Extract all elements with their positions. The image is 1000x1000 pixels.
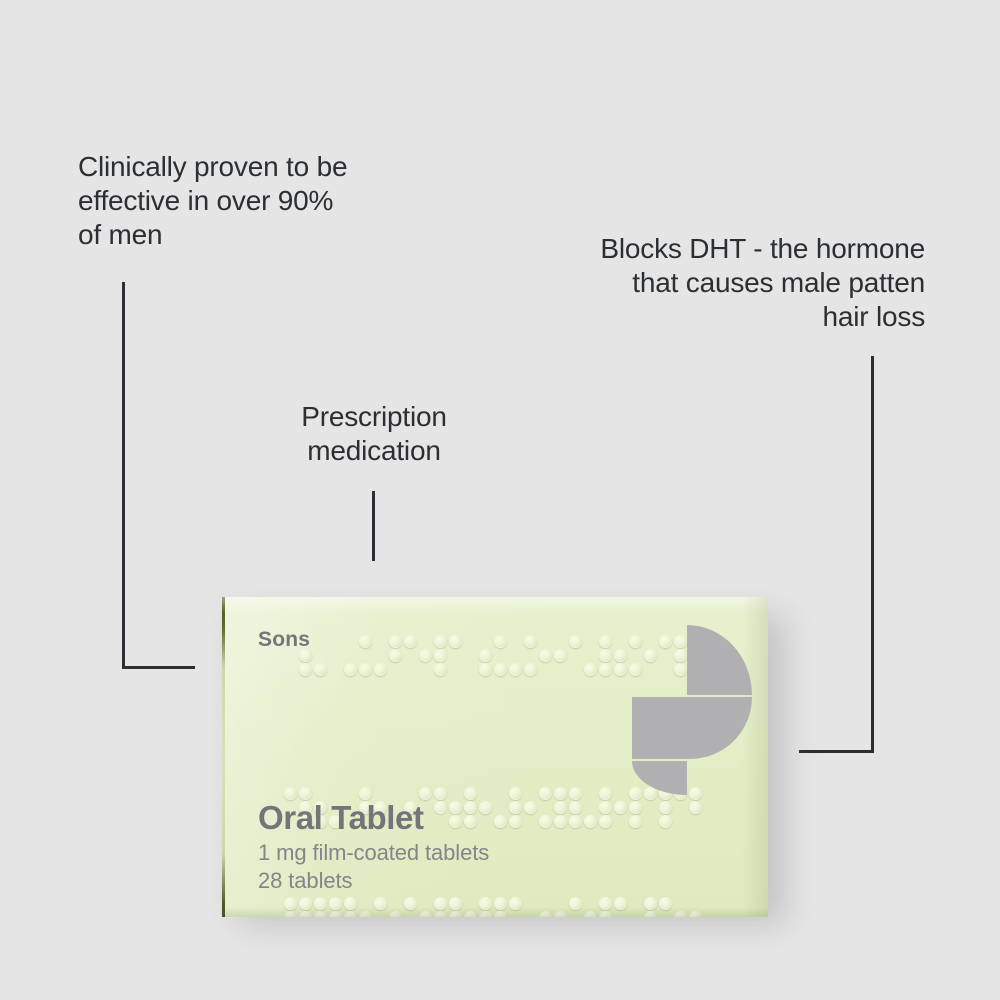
braille-dot [569,801,582,814]
braille-dot [509,787,522,800]
braille-dot [614,801,627,814]
braille-dot [599,801,612,814]
braille-dot [554,815,567,828]
leader-line-clinically-proven-horizontal [122,666,195,669]
braille-dot [584,815,597,828]
braille-dot [524,635,537,648]
leader-line-blocks-dht-horizontal [799,750,873,753]
product-count: 28 tablets [258,867,489,895]
product-copy-block: Oral Tablet 1 mg film-coated tablets 28 … [258,798,489,895]
braille-dot [554,649,567,662]
braille-dot [434,649,447,662]
leader-line-blocks-dht-vertical [871,356,874,753]
braille-dot [434,663,447,676]
brand-wordmark: Sons [258,628,310,652]
braille-dot [629,815,642,828]
braille-dot [659,815,672,828]
braille-dot [689,801,702,814]
braille-dot [659,801,672,814]
braille-dot [359,663,372,676]
braille-dot [524,663,537,676]
braille-dot [569,815,582,828]
braille-dot [404,635,417,648]
braille-dot [539,815,552,828]
braille-dot [509,801,522,814]
braille-dot [539,787,552,800]
braille-dot [554,801,567,814]
braille-dot [434,635,447,648]
braille-dot [479,649,492,662]
braille-dot [449,635,462,648]
braille-dot [509,815,522,828]
braille-dot [599,815,612,828]
braille-dot [614,663,627,676]
braille-dot [389,635,402,648]
callout-blocks-dht: Blocks DHT - the hormone that causes mal… [540,232,925,334]
box-left-edge [222,597,225,917]
braille-dot [554,787,567,800]
callout-prescription-medication: Prescription medication [258,400,490,468]
braille-dot [299,663,312,676]
braille-dot [494,815,507,828]
braille-dot [314,663,327,676]
box-bottom-shade [222,907,768,917]
braille-dot [599,663,612,676]
braille-dot [344,663,357,676]
product-strength: 1 mg film-coated tablets [258,839,489,867]
braille-dot [374,663,387,676]
braille-dot [494,635,507,648]
braille-dot [494,663,507,676]
braille-dot [584,663,597,676]
product-box: Sons Oral Tablet 1 mg film-coated tablet… [222,597,768,917]
product-title: Oral Tablet [258,798,489,838]
braille-dot [524,801,537,814]
leader-line-clinically-proven-vertical [122,282,125,669]
box-top-sheen [222,597,768,613]
infographic-canvas: Clinically proven to be effective in ove… [0,0,1000,1000]
braille-dot [569,635,582,648]
braille-dot [599,635,612,648]
braille-dot [569,787,582,800]
braille-dot [389,649,402,662]
sons-s-logo-icon [632,625,752,795]
braille-dot [479,663,492,676]
braille-dot [509,663,522,676]
callout-clinically-proven: Clinically proven to be effective in ove… [78,150,408,252]
braille-dot [614,649,627,662]
braille-dot [599,649,612,662]
braille-dot [539,649,552,662]
braille-dot [359,635,372,648]
braille-dot [599,787,612,800]
braille-dot [629,801,642,814]
braille-dot [419,649,432,662]
leader-line-prescription-vertical [372,491,375,561]
